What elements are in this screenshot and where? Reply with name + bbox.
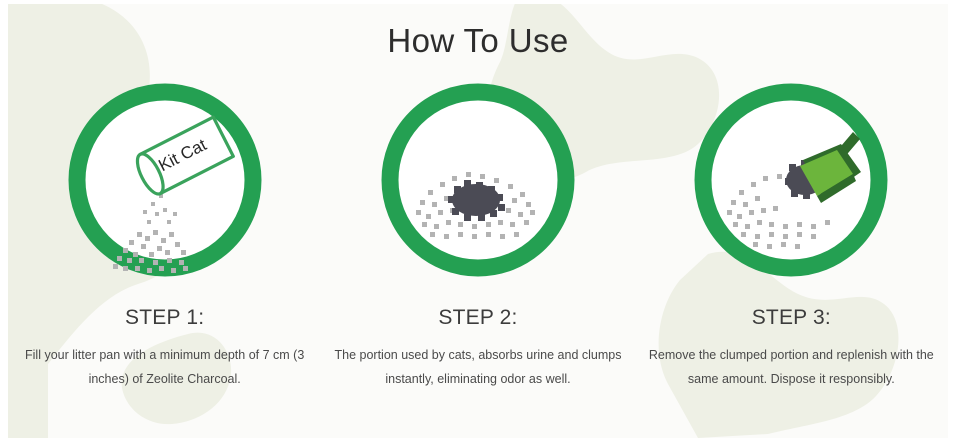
step-description-2: The portion used by cats, absorbs urine … — [333, 343, 623, 392]
how-to-use-section: How To Use — [0, 0, 960, 448]
steps-row: Kit Cat STEP 1: Fill your litter pan wit… — [8, 82, 948, 392]
litter-bag-pouring-icon: Kit Cat — [67, 82, 263, 278]
step-title-1: STEP 1: — [125, 306, 204, 330]
step-item-2: STEP 2: The portion used by cats, absorb… — [328, 82, 628, 392]
step-description-1: Fill your litter pan with a minimum dept… — [20, 343, 310, 392]
litter-scoop-icon — [693, 82, 889, 278]
clumped-litter-icon — [380, 82, 576, 278]
step-item-1: Kit Cat STEP 1: Fill your litter pan wit… — [15, 82, 315, 392]
step-item-3: STEP 3: Remove the clumped portion and r… — [641, 82, 941, 392]
step-description-3: Remove the clumped portion and replenish… — [646, 343, 936, 392]
step-title-3: STEP 3: — [752, 306, 831, 330]
page-title: How To Use — [8, 22, 948, 60]
step-title-2: STEP 2: — [438, 306, 517, 330]
section-canvas: How To Use — [8, 4, 948, 438]
